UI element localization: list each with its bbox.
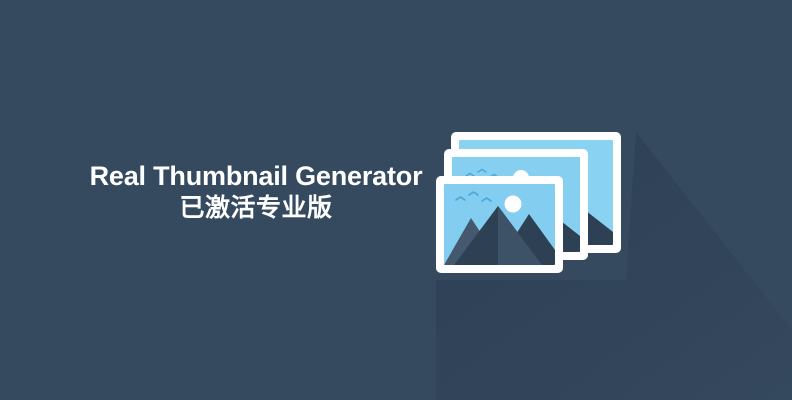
photo-frame-front	[436, 176, 563, 273]
stacked-photos-icon	[424, 120, 634, 280]
app-banner: Real Thumbnail Generator 已激活专业版	[0, 0, 792, 400]
